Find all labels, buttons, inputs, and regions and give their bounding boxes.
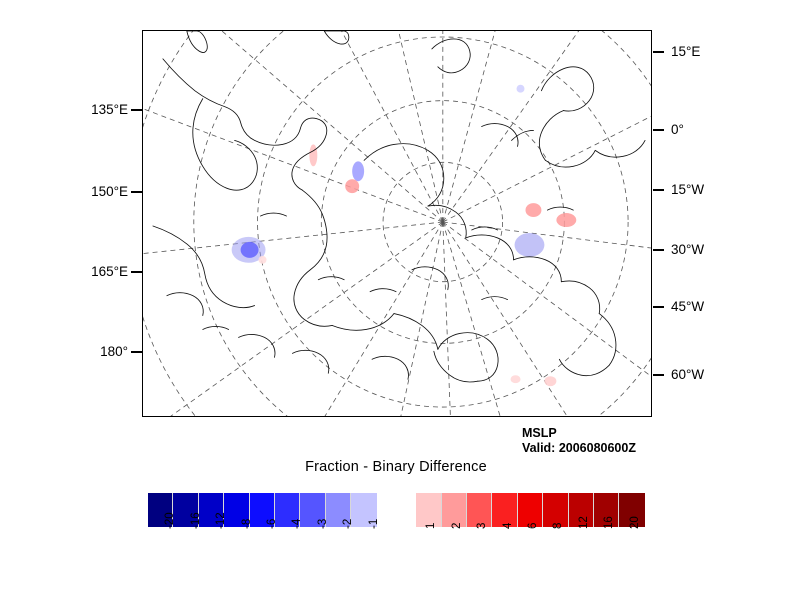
colorbar-tick--8: -8 <box>241 519 253 529</box>
axis-left-label-0: 135°E <box>66 102 128 117</box>
axis-right-tick-4 <box>653 306 664 308</box>
colorbar-tick-6: 6 <box>527 523 539 529</box>
axis-right-label-1: 0° <box>671 122 684 137</box>
axis-left-tick-0 <box>131 109 142 111</box>
annotation-valid-time: Valid: 2006080600Z <box>522 441 636 456</box>
colorbar-tick--2: -2 <box>342 519 354 529</box>
colorbar-tick--16: -16 <box>190 512 202 529</box>
anomaly-field <box>232 85 577 386</box>
colorbar-tick-12: 12 <box>578 516 590 529</box>
colorbar-tick-2: 2 <box>451 523 463 529</box>
colorbar-tick--6: -6 <box>266 519 278 529</box>
colorbar-tick--20: -20 <box>164 512 176 529</box>
figure-canvas: 135°E 150°E 165°E 180° 15°E 0° 15°W 30°W… <box>0 0 792 612</box>
colorbar-tick--4: -4 <box>291 519 303 529</box>
axis-left-tick-3 <box>131 351 142 353</box>
colorbar-tick-20: 20 <box>629 516 641 529</box>
axis-right-label-2: 15°W <box>671 182 704 197</box>
axis-right-tick-2 <box>653 189 664 191</box>
annotation-field-name: MSLP <box>522 426 557 441</box>
axis-right-tick-1 <box>653 129 664 131</box>
colorbar-tick--12: -12 <box>215 512 227 529</box>
colorbar-zero-gap <box>377 493 417 527</box>
axis-right-tick-0 <box>653 51 664 53</box>
axis-right-tick-3 <box>653 249 664 251</box>
map-plot-area <box>142 30 652 417</box>
axis-left-tick-1 <box>131 191 142 193</box>
colorbar-tick-1: 1 <box>425 523 437 529</box>
axis-right-label-3: 30°W <box>671 242 704 257</box>
colorbar-tick-4: 4 <box>502 523 514 529</box>
axis-left-label-1: 150°E <box>66 184 128 199</box>
coastline-outlines <box>153 31 645 382</box>
axis-right-label-5: 60°W <box>671 367 704 382</box>
figure-title: Fraction - Binary Difference <box>0 459 792 475</box>
axis-right-label-4: 45°W <box>671 299 704 314</box>
colorbar-tick-3: 3 <box>476 523 488 529</box>
axis-left-tick-2 <box>131 271 142 273</box>
axis-left-label-3: 180° <box>66 344 128 359</box>
axis-right-label-0: 15°E <box>671 44 700 59</box>
colorbar-tick-labels: -20-16-12-8-6-4-3-2-1123468121620 <box>148 529 645 569</box>
axis-left-label-2: 165°E <box>66 264 128 279</box>
colorbar-tick-8: 8 <box>552 523 564 529</box>
polar-stereographic-map <box>143 31 651 416</box>
colorbar-tick-16: 16 <box>603 516 615 529</box>
colorbar-tick--1: -1 <box>368 519 380 529</box>
axis-right-tick-5 <box>653 374 664 376</box>
colorbar-tick--3: -3 <box>317 519 329 529</box>
